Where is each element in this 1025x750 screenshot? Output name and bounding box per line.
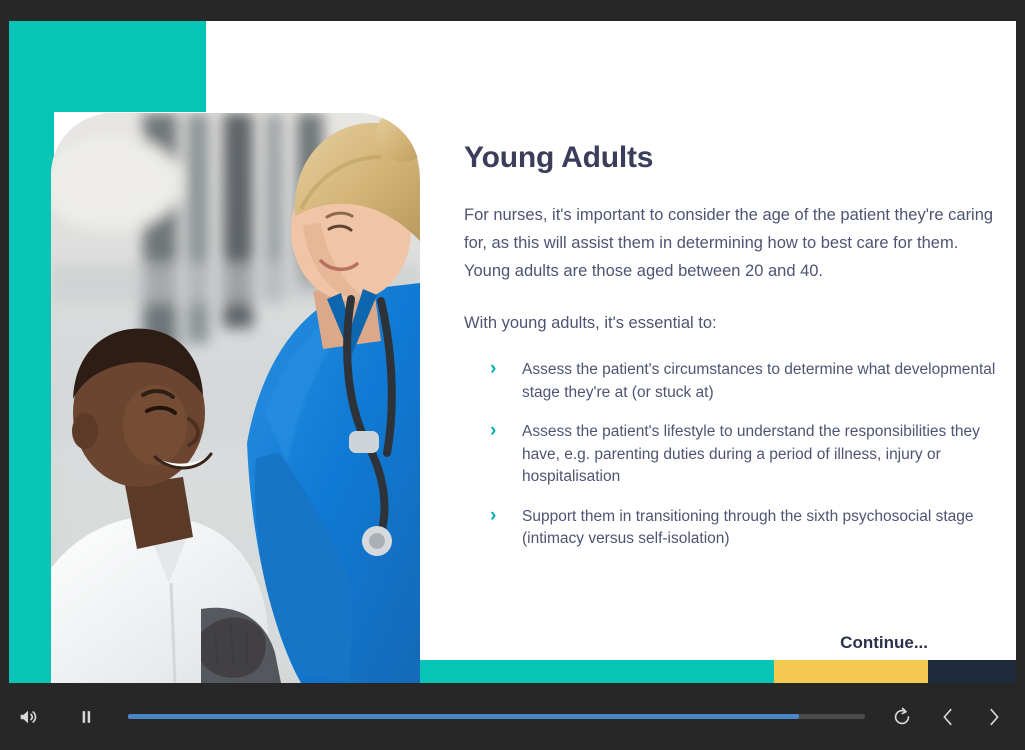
list-item: › Support them in transitioning through … [486, 506, 1004, 551]
list-item: › Assess the patient's circumstances to … [486, 359, 1004, 404]
next-button[interactable] [975, 698, 1013, 736]
teal-accent-strip [9, 112, 54, 683]
course-player: Young Adults For nurses, it's important … [0, 0, 1025, 750]
list-item-label: Assess the patient's lifestyle to unders… [522, 423, 980, 485]
player-control-bar [0, 683, 1025, 750]
slide-stage: Young Adults For nurses, it's important … [9, 21, 1016, 683]
chevron-right-icon: › [490, 358, 496, 380]
list-item-label: Assess the patient's circumstances to de… [522, 361, 995, 401]
intro-paragraph: For nurses, it's important to consider t… [464, 201, 1004, 285]
previous-button[interactable] [929, 698, 967, 736]
chevron-right-icon: › [490, 505, 496, 527]
slide-content: Young Adults For nurses, it's important … [464, 141, 1004, 568]
list-item: › Assess the patient's lifestyle to unde… [486, 421, 1004, 489]
page-title: Young Adults [464, 141, 1004, 175]
chevron-right-icon: › [490, 420, 496, 442]
progress-scrubber[interactable] [128, 707, 865, 727]
band-navy [928, 660, 1016, 683]
essentials-list: › Assess the patient's circumstances to … [464, 359, 1004, 551]
list-lede: With young adults, it's essential to: [464, 309, 1004, 337]
continue-button[interactable]: Continue... [840, 633, 928, 653]
nurse-and-patient-photo [51, 113, 420, 683]
band-teal [420, 660, 774, 683]
progress-track[interactable] [128, 714, 865, 719]
footer-color-bands [420, 660, 1016, 683]
volume-button[interactable] [8, 697, 48, 737]
list-item-label: Support them in transitioning through th… [522, 508, 973, 548]
replay-button[interactable] [883, 698, 921, 736]
progress-fill [128, 714, 799, 719]
teal-accent-block [9, 21, 206, 112]
pause-button[interactable] [66, 697, 106, 737]
band-yellow [774, 660, 928, 683]
